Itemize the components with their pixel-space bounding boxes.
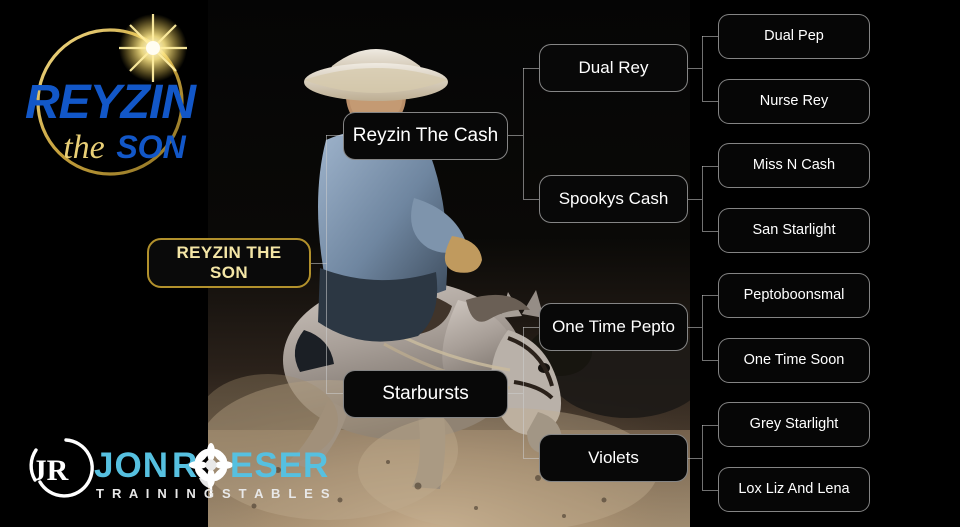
- stable-word-eser: ESER: [230, 446, 329, 485]
- reyzin-the-son-brand-logo: REYZIN the SON: [20, 10, 210, 190]
- pedigree-node-sire-sire[interactable]: Dual Rey: [539, 44, 688, 92]
- pedigree-node-gen4-2[interactable]: Nurse Rey: [718, 79, 870, 124]
- connector-gen3a1-out: [688, 68, 702, 69]
- connector-gen2b-out: [508, 393, 523, 394]
- connector-gen4b-spine: [702, 166, 703, 231]
- connector-gen3b-spine: [523, 327, 524, 458]
- starburst-icon: [119, 14, 187, 82]
- pedigree-node-dam[interactable]: Starbursts: [343, 370, 508, 418]
- pedigree-node-gen4-8[interactable]: Lox Liz And Lena: [718, 467, 870, 512]
- jr-monogram-icon: JR: [31, 440, 92, 496]
- connector-gen4a-in-bottom: [702, 101, 718, 102]
- pedigree-node-sire[interactable]: Reyzin The Cash: [343, 112, 508, 160]
- stable-word-jon: JON: [94, 446, 169, 485]
- pedigree-poster: REYZIN the SON JR JON R: [0, 0, 960, 527]
- connector-gen4d-in-top: [702, 425, 718, 426]
- stable-tagline: T R A I N I N G S T A B L E S: [96, 486, 332, 501]
- connector-gen3b-in-bottom: [523, 458, 539, 459]
- connector-gen4b-in-bottom: [702, 231, 718, 232]
- connector-subject-out: [311, 263, 327, 264]
- connector-gen4d-spine: [702, 425, 703, 490]
- connector-gen3b-in-top: [523, 327, 539, 328]
- pedigree-node-dam-dam[interactable]: Violets: [539, 434, 688, 482]
- connector-gen3a-in-bottom: [523, 199, 539, 200]
- connector-gen2-in-top: [326, 135, 343, 136]
- connector-gen3a2-out: [688, 199, 702, 200]
- connector-gen3b1-out: [688, 327, 702, 328]
- svg-text:JR: JR: [32, 454, 69, 487]
- pedigree-node-gen4-1[interactable]: Dual Pep: [718, 14, 870, 59]
- connector-gen4a-spine: [702, 36, 703, 101]
- connector-gen2-spine: [326, 135, 327, 393]
- connector-gen4c-in-top: [702, 295, 718, 296]
- pedigree-node-gen4-7[interactable]: Grey Starlight: [718, 402, 870, 447]
- connector-gen2-in-bottom: [326, 393, 343, 394]
- connector-gen3a-in-top: [523, 68, 539, 69]
- pedigree-node-subject[interactable]: REYZIN THE SON: [147, 238, 311, 288]
- pedigree-node-gen4-5[interactable]: Peptoboonsmal: [718, 273, 870, 318]
- pedigree-node-sire-dam[interactable]: Spookys Cash: [539, 175, 688, 223]
- connector-gen4d-in-bottom: [702, 490, 718, 491]
- pedigree-node-dam-sire[interactable]: One Time Pepto: [539, 303, 688, 351]
- connector-gen4c-spine: [702, 295, 703, 360]
- connector-gen4b-in-top: [702, 166, 718, 167]
- connector-gen4c-in-bottom: [702, 360, 718, 361]
- connector-gen3a-spine: [523, 68, 524, 199]
- connector-gen3b2-out: [688, 458, 702, 459]
- brand-script-text: the: [63, 129, 105, 166]
- jon-roeser-training-stables-logo: JR JON R: [14, 432, 334, 504]
- pedigree-node-gen4-6[interactable]: One Time Soon: [718, 338, 870, 383]
- brand-name-text: REYZIN: [25, 76, 197, 129]
- pedigree-node-gen4-3[interactable]: Miss N Cash: [718, 143, 870, 188]
- connector-gen2a-out: [508, 135, 523, 136]
- brand-suffix-text: SON: [116, 129, 186, 165]
- connector-gen4a-in-top: [702, 36, 718, 37]
- pedigree-node-gen4-4[interactable]: San Starlight: [718, 208, 870, 253]
